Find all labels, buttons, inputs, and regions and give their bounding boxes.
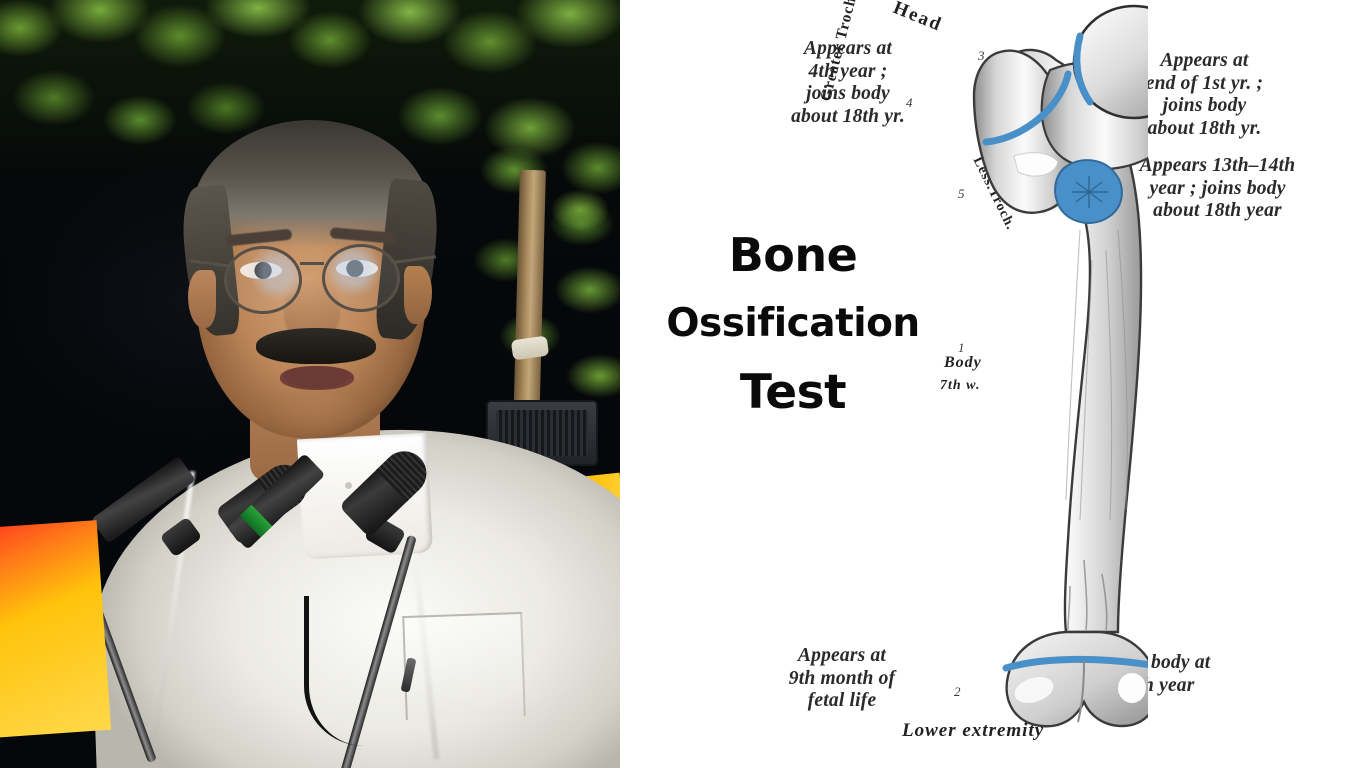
poster-title: Bone Ossification Test bbox=[638, 232, 948, 416]
title-line-1: Bone bbox=[638, 232, 948, 278]
mic-grille-right bbox=[376, 442, 435, 501]
mic-cable bbox=[304, 596, 374, 746]
poster-root: Bone Ossification Test Appears at 4th ye… bbox=[0, 0, 1366, 768]
title-line-2: Ossification bbox=[638, 304, 948, 343]
banner-left bbox=[0, 520, 111, 738]
mic-green-band bbox=[240, 505, 272, 538]
mouth bbox=[280, 366, 354, 390]
eyeglass-lens-right bbox=[322, 244, 400, 312]
microphone-right bbox=[200, 430, 540, 768]
eyeglass-lens-left bbox=[224, 246, 302, 314]
ear-left bbox=[188, 270, 216, 328]
speaker-photo bbox=[0, 0, 620, 768]
mic-clip-left bbox=[160, 516, 203, 557]
diagram-panel: Bone Ossification Test Appears at 4th ye… bbox=[620, 0, 1366, 768]
mic-body-right bbox=[227, 453, 326, 550]
condyle-highlight-right bbox=[1118, 673, 1146, 703]
title-line-3: Test bbox=[638, 369, 948, 416]
eyeglass-bridge bbox=[300, 262, 324, 265]
mustache bbox=[256, 328, 376, 364]
